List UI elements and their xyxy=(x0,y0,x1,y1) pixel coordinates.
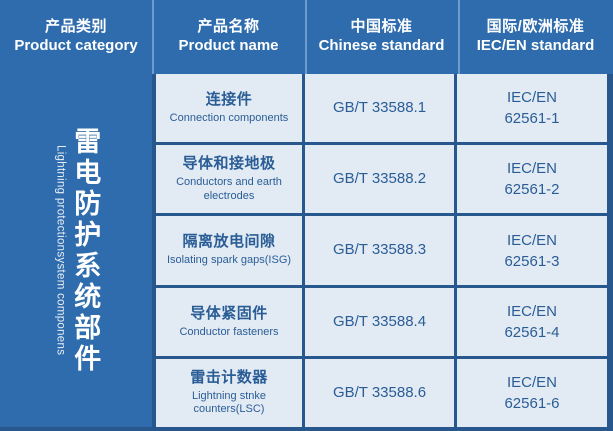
iec-en-standard-cell: IEC/EN 62561-1 xyxy=(457,74,607,142)
table-row: 雷击计数器 Lightning stnke counters(LSC) GB/T… xyxy=(156,359,610,427)
product-name-en: Lightning stnke counters(LSC) xyxy=(156,390,302,417)
iec-en-standard-prefix: IEC/EN xyxy=(507,230,557,251)
column-header-product-name-en: Product name xyxy=(178,38,278,55)
product-name-zh: 导体紧固件 xyxy=(190,305,268,323)
chinese-standard-cell: GB/T 33588.3 xyxy=(305,216,457,284)
chinese-standard-value: GB/T 33588.2 xyxy=(333,169,426,189)
column-header-product-name-zh: 产品名称 xyxy=(197,19,259,36)
chinese-standard-cell: GB/T 33588.6 xyxy=(305,359,457,427)
table-body: 雷电防护系统部件 Lightning protectionsystem comp… xyxy=(0,74,613,431)
iec-en-standard-cell: IEC/EN 62561-2 xyxy=(457,145,607,213)
table-row: 隔离放电间隙 Isolating spark gaps(ISG) GB/T 33… xyxy=(156,216,610,287)
column-header-chinese-standard: 中国标准 Chinese standard xyxy=(305,0,458,74)
iec-en-standard-cell: IEC/EN 62561-4 xyxy=(457,288,607,356)
product-name-zh: 隔离放电间隙 xyxy=(182,233,275,251)
product-name-cell: 导体紧固件 Conductor fasteners xyxy=(156,288,305,356)
product-category-label-en: Lightning protectionsystem componens xyxy=(54,145,66,355)
chinese-standard-cell: GB/T 33588.2 xyxy=(305,145,457,213)
product-name-en: Conductors and earth electrodes xyxy=(156,176,302,203)
table-row: 连接件 Connection components GB/T 33588.1 I… xyxy=(156,74,610,145)
column-header-product-category-zh: 产品类别 xyxy=(45,19,107,36)
product-category-label-zh: 雷电防护系统部件 xyxy=(71,127,98,375)
column-header-iec-en-standard-zh: 国际/欧洲标准 xyxy=(487,19,585,36)
column-header-product-name: 产品名称 Product name xyxy=(152,0,305,74)
product-name-zh: 连接件 xyxy=(206,91,253,109)
iec-en-standard-prefix: IEC/EN xyxy=(507,87,557,108)
product-category-vertical-text: 雷电防护系统部件 Lightning protectionsystem comp… xyxy=(54,74,99,427)
iec-en-standard-cell: IEC/EN 62561-6 xyxy=(457,359,607,427)
column-header-product-category: 产品类别 Product category xyxy=(0,0,152,74)
product-name-en: Conductor fasteners xyxy=(175,326,282,339)
chinese-standard-value: GB/T 33588.3 xyxy=(333,240,426,260)
column-header-iec-en-standard: 国际/欧洲标准 IEC/EN standard xyxy=(458,0,613,74)
product-name-zh: 导体和接地极 xyxy=(182,155,275,173)
chinese-standard-cell: GB/T 33588.4 xyxy=(305,288,457,356)
iec-en-standard-number: 62561-6 xyxy=(504,393,559,414)
product-name-zh: 雷击计数器 xyxy=(190,369,268,387)
iec-en-standard-cell: IEC/EN 62561-3 xyxy=(457,216,607,284)
iec-en-standard-number: 62561-1 xyxy=(504,108,559,129)
iec-en-standard-number: 62561-2 xyxy=(504,179,559,200)
product-name-cell: 隔离放电间隙 Isolating spark gaps(ISG) xyxy=(156,216,305,284)
chinese-standard-value: GB/T 33588.6 xyxy=(333,383,426,403)
iec-en-standard-prefix: IEC/EN xyxy=(507,372,557,393)
table-header-row: 产品类别 Product category 产品名称 Product name … xyxy=(0,0,613,74)
iec-en-standard-number: 62561-3 xyxy=(504,251,559,272)
product-name-cell: 雷击计数器 Lightning stnke counters(LSC) xyxy=(156,359,305,427)
chinese-standard-cell: GB/T 33588.1 xyxy=(305,74,457,142)
column-header-chinese-standard-zh: 中国标准 xyxy=(350,19,412,36)
table-row: 导体紧固件 Conductor fasteners GB/T 33588.4 I… xyxy=(156,288,610,359)
product-name-cell: 连接件 Connection components xyxy=(156,74,305,142)
product-category-cell: 雷电防护系统部件 Lightning protectionsystem comp… xyxy=(0,74,152,431)
column-header-chinese-standard-en: Chinese standard xyxy=(319,38,445,55)
column-header-product-category-en: Product category xyxy=(14,38,137,55)
product-name-cell: 导体和接地极 Conductors and earth electrodes xyxy=(156,145,305,213)
table-rows-container: 连接件 Connection components GB/T 33588.1 I… xyxy=(152,74,613,431)
product-name-en: Isolating spark gaps(ISG) xyxy=(163,254,295,267)
product-name-en: Connection components xyxy=(166,112,293,125)
chinese-standard-value: GB/T 33588.1 xyxy=(333,98,426,118)
iec-en-standard-prefix: IEC/EN xyxy=(507,158,557,179)
iec-en-standard-number: 62561-4 xyxy=(504,322,559,343)
standards-comparison-table: 产品类别 Product category 产品名称 Product name … xyxy=(0,0,613,431)
iec-en-standard-prefix: IEC/EN xyxy=(507,301,557,322)
column-header-iec-en-standard-en: IEC/EN standard xyxy=(477,38,595,55)
chinese-standard-value: GB/T 33588.4 xyxy=(333,312,426,332)
table-row: 导体和接地极 Conductors and earth electrodes G… xyxy=(156,145,610,216)
